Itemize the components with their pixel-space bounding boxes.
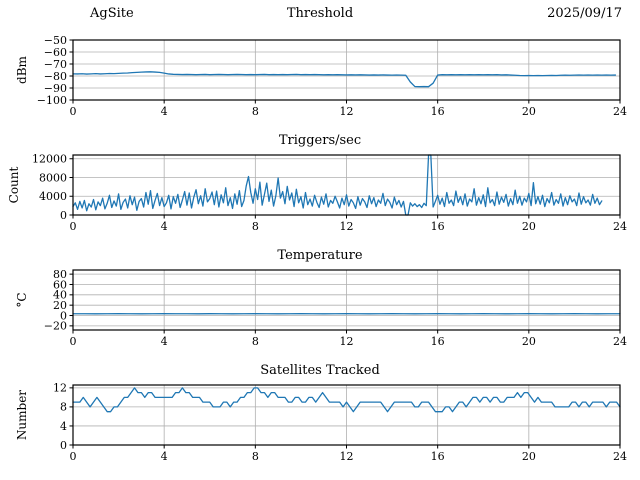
svg-text:80: 80 (53, 268, 67, 281)
svg-text:24: 24 (613, 220, 627, 233)
svg-text:−50: −50 (44, 34, 67, 47)
svg-text:−70: −70 (44, 58, 67, 71)
svg-text:12000: 12000 (32, 153, 67, 166)
svg-text:20: 20 (522, 335, 536, 348)
panel-triggers: Triggers/sec0481216202404000800012000Cou… (0, 133, 640, 237)
monitoring-dashboard: AgSite Threshold 2025/09/17 04812162024−… (0, 0, 640, 480)
svg-text:0: 0 (70, 220, 77, 233)
svg-text:12: 12 (340, 220, 354, 233)
svg-text:8: 8 (252, 450, 259, 463)
plot-threshold: 04812162024−100−90−80−70−60−50dBm (0, 22, 640, 122)
svg-text:16: 16 (431, 335, 445, 348)
svg-text:4: 4 (161, 450, 168, 463)
svg-text:12: 12 (340, 105, 354, 118)
svg-text:16: 16 (431, 220, 445, 233)
svg-text:4: 4 (60, 420, 67, 433)
plot-triggers-sec: 0481216202404000800012000Count (0, 133, 640, 237)
svg-text:0: 0 (60, 209, 67, 222)
svg-text:24: 24 (613, 105, 627, 118)
svg-text:4: 4 (161, 220, 168, 233)
page-title: Threshold (0, 6, 640, 21)
svg-text:20: 20 (522, 450, 536, 463)
svg-text:24: 24 (613, 335, 627, 348)
svg-text:°C: °C (15, 292, 29, 307)
svg-text:−80: −80 (44, 70, 67, 83)
svg-text:20: 20 (522, 220, 536, 233)
svg-text:Count: Count (7, 166, 21, 203)
svg-text:12: 12 (340, 450, 354, 463)
svg-text:4: 4 (161, 105, 168, 118)
svg-text:−100: −100 (37, 94, 67, 107)
svg-text:0: 0 (60, 439, 67, 452)
svg-text:dBm: dBm (15, 55, 29, 84)
svg-text:−60: −60 (44, 46, 67, 59)
svg-text:16: 16 (431, 450, 445, 463)
panel-satellites: Satellites Tracked0481216202404812Number (0, 363, 640, 467)
svg-text:16: 16 (431, 105, 445, 118)
svg-text:12: 12 (340, 335, 354, 348)
svg-text:24: 24 (613, 450, 627, 463)
svg-text:0: 0 (70, 335, 77, 348)
svg-text:8: 8 (60, 401, 67, 414)
panel-threshold: 04812162024−100−90−80−70−60−50dBm (0, 22, 640, 122)
plot-satellites-tracked: 0481216202404812Number (0, 363, 640, 467)
svg-text:0: 0 (70, 450, 77, 463)
svg-text:8000: 8000 (39, 171, 67, 184)
panel-title: Temperature (0, 248, 640, 263)
date-label: 2025/09/17 (547, 6, 622, 21)
svg-text:4000: 4000 (39, 190, 67, 203)
svg-text:12: 12 (53, 382, 67, 395)
svg-text:0: 0 (70, 105, 77, 118)
svg-text:4: 4 (161, 335, 168, 348)
plot-temperature: 04812162024−20020406080°C (0, 248, 640, 352)
svg-text:−90: −90 (44, 82, 67, 95)
panel-title: Satellites Tracked (0, 363, 640, 378)
svg-text:8: 8 (252, 335, 259, 348)
panel-temperature: Temperature04812162024−20020406080°C (0, 248, 640, 352)
svg-text:Number: Number (15, 390, 29, 440)
panel-title: Triggers/sec (0, 133, 640, 148)
svg-text:8: 8 (252, 220, 259, 233)
svg-text:8: 8 (252, 105, 259, 118)
svg-text:20: 20 (522, 105, 536, 118)
